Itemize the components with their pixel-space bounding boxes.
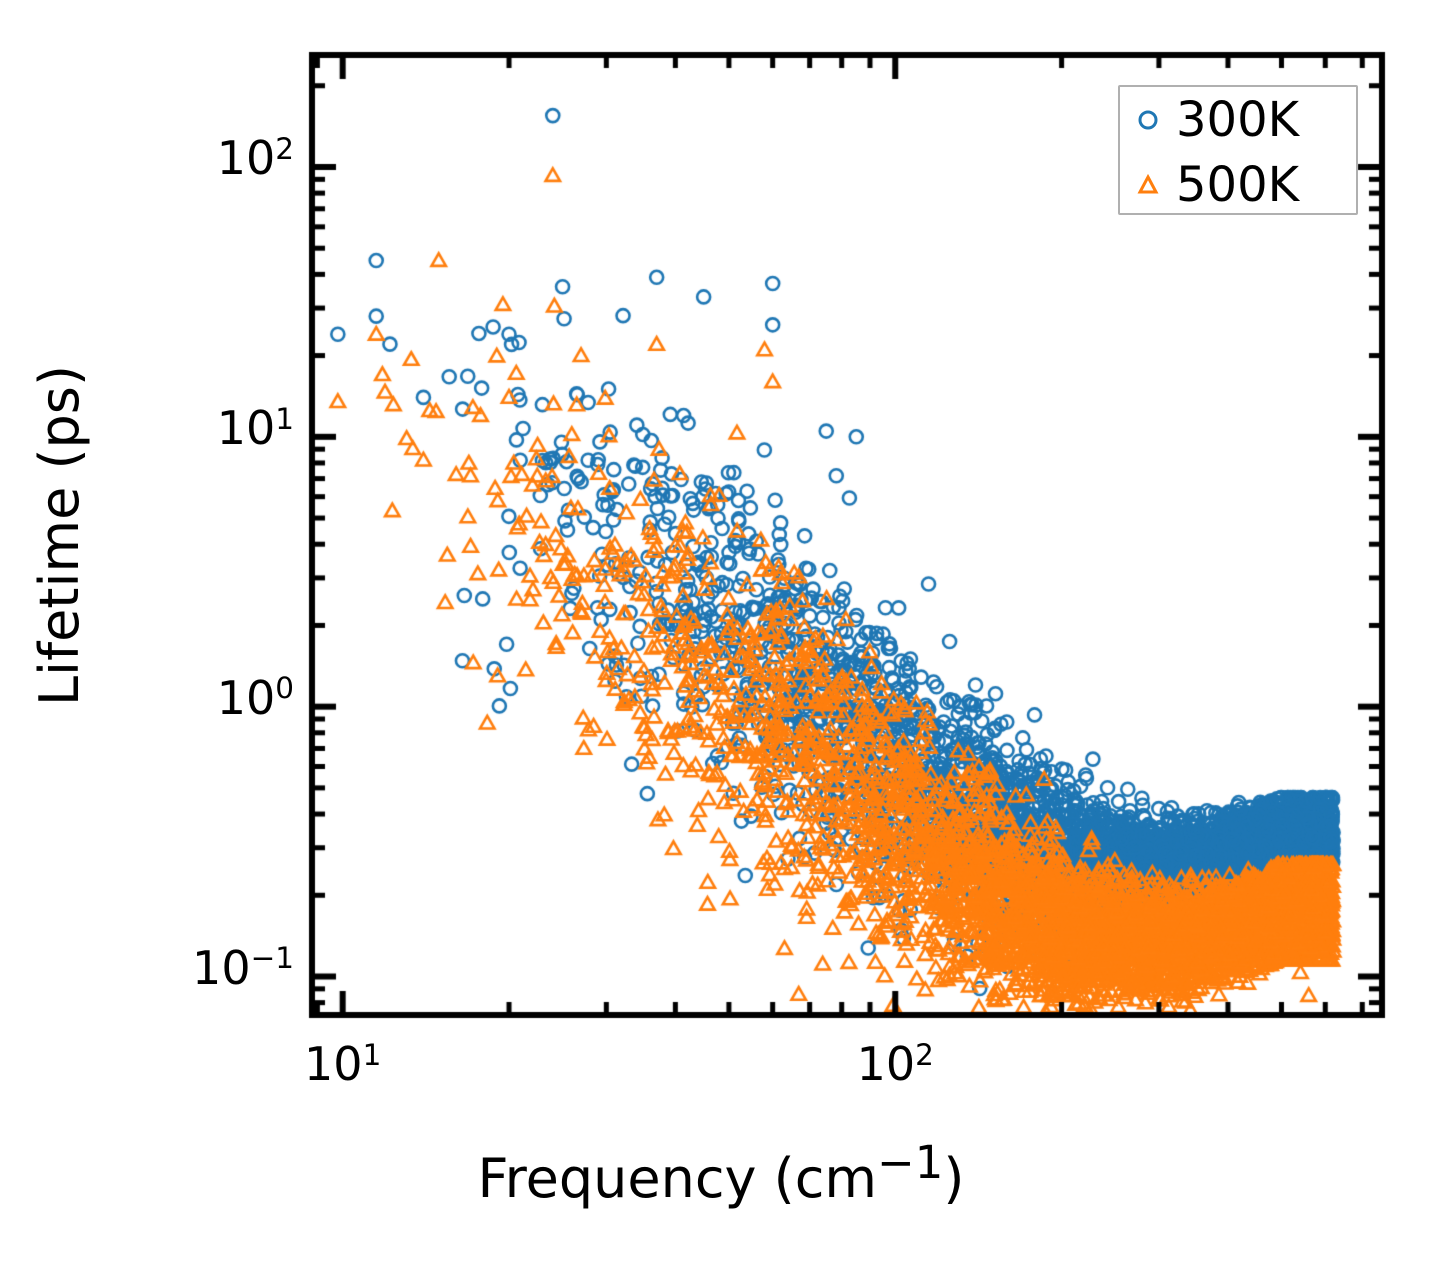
y-tick-label-1e-1: 10−1	[192, 941, 294, 995]
triangle-open-marker	[1120, 172, 1176, 198]
legend[interactable]: 300K 500K	[1118, 85, 1358, 215]
x-tick-label-1e1: 101	[213, 1037, 473, 1091]
legend-item-300k[interactable]: 300K	[1120, 87, 1356, 152]
legend-label-300k: 300K	[1176, 92, 1299, 148]
y-tick-label-1e1: 101	[217, 401, 294, 455]
y-tick-label-1e2: 102	[217, 131, 294, 185]
legend-label-500k: 500K	[1176, 157, 1299, 213]
y-tick-label-1e0: 100	[217, 671, 294, 725]
y-axis-title: Lifetime (ps)	[29, 364, 92, 705]
x-axis-title: Frequency (cm−1)	[0, 1136, 1442, 1210]
legend-item-500k[interactable]: 500K	[1120, 152, 1356, 217]
circle-open-marker	[1120, 107, 1176, 133]
scatter-plot-figure: 102 101 100 10−1 101 102 Frequency (cm−1…	[0, 0, 1442, 1265]
y-axis-title-wrap: Lifetime (ps)	[0, 0, 120, 1070]
x-tick-label-1e2: 102	[765, 1037, 1025, 1091]
